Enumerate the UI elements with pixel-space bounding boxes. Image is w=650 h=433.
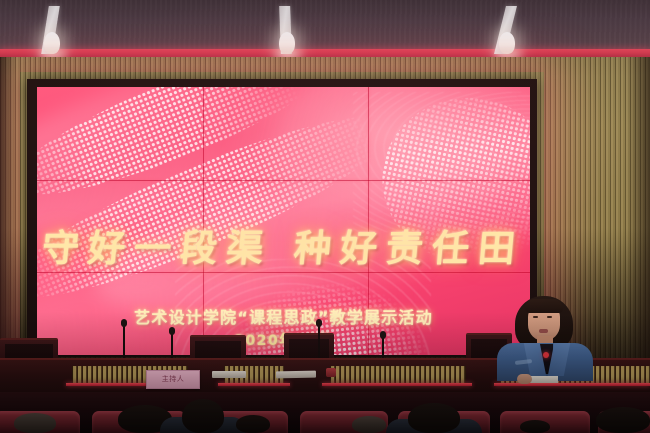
table-led-strip [494,383,650,386]
audience-head [408,403,460,433]
speaker-fringe [525,299,563,313]
audience-head [596,407,650,433]
speaker-eye-left [533,316,538,318]
speaker-hand [517,374,532,384]
ceiling-texture [0,0,650,53]
table-led-strip [322,383,472,386]
speaker-badge-icon [543,352,549,358]
spotlight-right-icon [498,6,524,58]
audience-head [236,415,270,433]
speaker-eye-right [547,316,552,318]
wall-right-shadow [626,57,650,367]
table-documents [212,371,246,378]
screen-headline: 守好一段渠 种好责任田 [37,218,530,272]
speaker-notes [530,376,558,383]
table-documents [276,371,316,379]
wall-left-shadow [0,57,16,367]
lecture-hall-photo: 守好一段渠 种好责任田 艺术设计学院“课程思政”教学展示活动 2020年12月 … [0,0,650,433]
audience-head [352,416,386,433]
audience-head [182,399,224,433]
desk-nameplate: 主持人 [146,370,200,389]
speaker-mouth [539,329,548,333]
spotlight-left-icon [43,6,69,58]
speaker-person [497,296,593,374]
nameplate-label: 主持人 [147,371,199,387]
ceiling [0,0,650,53]
audience-head [14,413,56,433]
table-led-strip [218,383,290,386]
table-slat-panel [330,366,466,383]
spotlight-center-icon [278,6,304,58]
table-cup [326,368,336,377]
audience-area [0,392,650,433]
led-video-wall: 守好一段渠 种好责任田 艺术设计学院“课程思政”教学展示活动 2020年12月 [37,87,530,355]
audience-head [520,420,550,433]
screen-subtitle: 艺术设计学院“课程思政”教学展示活动 [37,304,530,328]
audience-seat-row [0,409,650,433]
ceiling-accent-band [0,49,650,57]
